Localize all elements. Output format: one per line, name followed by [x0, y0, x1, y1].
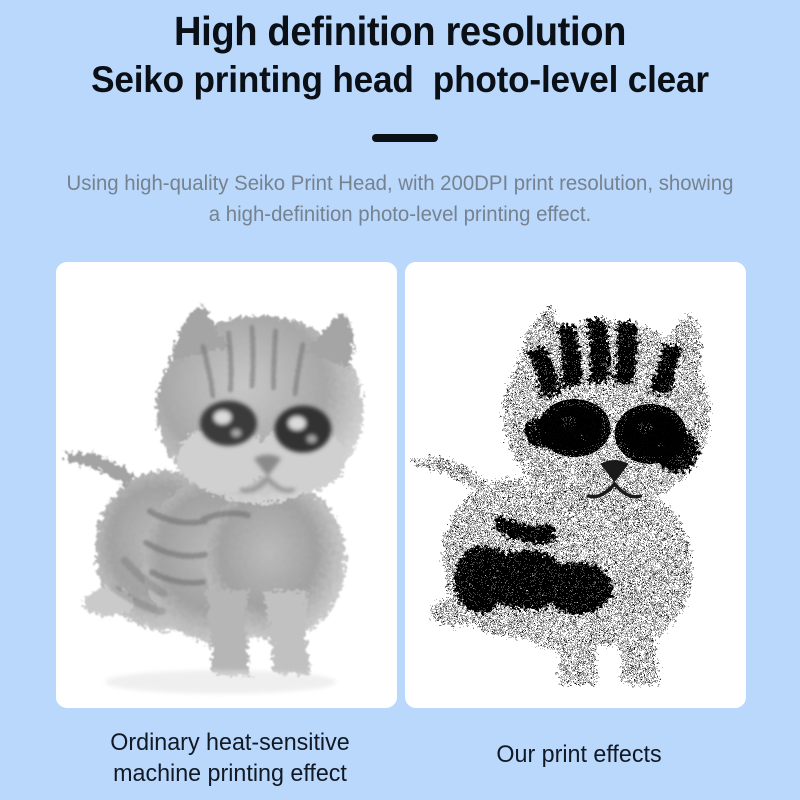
kitten-pencil-sketch-image — [56, 262, 397, 708]
title-divider — [372, 134, 438, 142]
caption-ours-line1: Our print effects — [417, 739, 741, 770]
description-text: Using high-quality Seiko Print Head, wit… — [61, 168, 740, 230]
page-title: High definition resolution — [28, 8, 772, 54]
page-subtitle: Seiko printing head photo-level clear — [20, 58, 780, 102]
kitten-stippled-halftone-image — [405, 262, 746, 708]
card-our-print — [405, 262, 746, 708]
caption-ours: Our print effects — [417, 739, 741, 770]
comparison-cards — [56, 262, 746, 708]
caption-ordinary: Ordinary heat-sensitive machine printing… — [61, 727, 399, 789]
promo-page: High definition resolution Seiko printin… — [0, 0, 800, 800]
caption-ordinary-line2: machine printing effect — [61, 758, 399, 789]
caption-ordinary-line1: Ordinary heat-sensitive — [61, 727, 399, 758]
card-ordinary-print — [56, 262, 397, 708]
